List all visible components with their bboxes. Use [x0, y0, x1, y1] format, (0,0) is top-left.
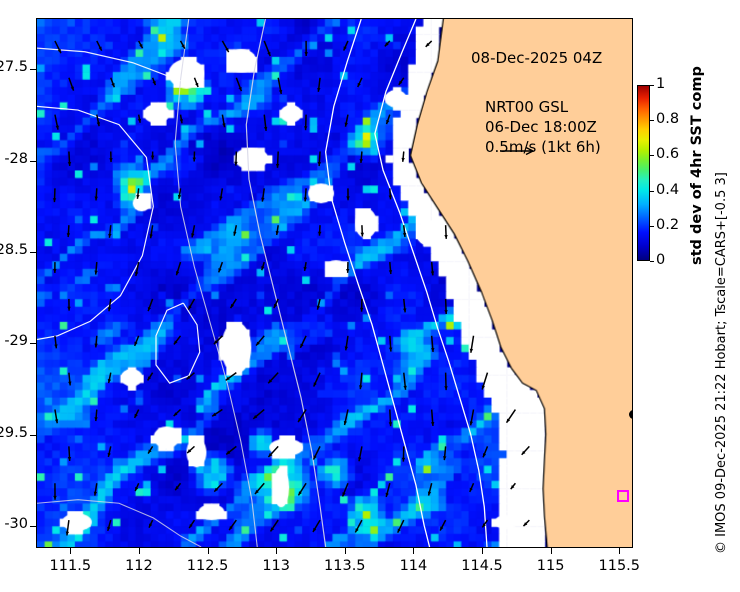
current-vector-arrow: [108, 373, 111, 383]
current-vector-arrow: [94, 336, 97, 348]
current-vector-arrow: [108, 446, 111, 457]
x-axis-tick-label: 112.5: [178, 558, 238, 574]
x-axis-tick: [482, 548, 483, 554]
current-vector-arrow: [212, 410, 222, 417]
current-vector-arrow: [402, 446, 405, 461]
x-axis-tick: [70, 548, 71, 554]
colorbar-gradient: [637, 85, 650, 261]
current-vector-arrow: [256, 336, 264, 346]
x-axis-tick-label: 114.5: [452, 558, 512, 574]
current-vector-arrow: [403, 299, 406, 312]
current-vector-arrow: [261, 262, 264, 270]
current-vector-arrow: [68, 373, 71, 386]
current-vector-arrow: [305, 41, 308, 56]
colorbar-tick: [650, 261, 654, 262]
y-axis-tick-label: -29.5: [0, 425, 28, 441]
current-vector-arrow: [97, 41, 102, 51]
x-axis-tick-label: 115.5: [589, 558, 649, 574]
current-vector-arrow: [181, 41, 185, 49]
current-vector-arrow: [403, 373, 406, 390]
current-vector-arrow: [426, 41, 432, 47]
current-vector-arrow: [187, 446, 194, 453]
current-vector-arrow: [440, 520, 445, 530]
fishsoop-observation-marker[interactable]: [617, 490, 629, 502]
current-vector-arrow: [522, 446, 530, 454]
current-vector-arrow: [188, 299, 194, 310]
current-vector-arrow: [193, 151, 196, 161]
sst-std-dev-map-figure: 08-Dec-2025 04Z NRT00 GSL 06-Dec 18:00Z …: [0, 0, 740, 592]
current-vector-arrow: [194, 78, 198, 87]
y-axis-tick-label: -30: [0, 516, 28, 532]
current-vector-arrow: [346, 188, 349, 200]
current-vector-arrow: [482, 373, 488, 390]
colorbar-tick: [650, 191, 654, 192]
current-vector-arrow: [174, 410, 181, 417]
x-axis-tick: [551, 548, 552, 554]
isobath-contour: [37, 48, 181, 81]
y-axis-tick: [30, 252, 36, 253]
current-vector-arrow: [139, 41, 143, 48]
current-vector-arrow: [298, 483, 306, 495]
x-axis-tick: [208, 548, 209, 554]
current-vector-arrow: [135, 410, 139, 418]
isobath-contour: [37, 500, 201, 547]
current-vector-arrow: [304, 115, 307, 131]
current-vector-arrow: [180, 115, 183, 124]
isobath-contour: [326, 19, 430, 547]
y-axis-tick: [30, 435, 36, 436]
current-vector-arrow: [344, 410, 348, 426]
current-vector-arrow: [226, 446, 236, 454]
current-vector-arrow: [431, 410, 434, 426]
current-vector-arrow: [358, 446, 362, 461]
current-vector-arrow: [97, 115, 100, 127]
x-axis-tick: [276, 548, 277, 554]
current-vector-arrow: [523, 520, 529, 526]
current-vector-arrow: [345, 336, 348, 351]
current-vector-arrow: [318, 151, 321, 166]
current-vector-arrow: [226, 373, 237, 381]
current-vector-arrow: [53, 262, 56, 273]
y-axis-tick: [30, 526, 36, 527]
current-vector-arrow: [219, 188, 222, 200]
current-vector-arrow: [264, 115, 267, 131]
current-vector-arrow: [271, 520, 279, 531]
current-vector-arrow: [359, 373, 362, 390]
current-vector-arrow: [470, 336, 474, 353]
current-vector-arrow: [174, 336, 181, 345]
current-vector-arrow: [443, 446, 446, 460]
current-vector-arrow: [148, 299, 153, 311]
current-vector-arrow: [444, 225, 447, 239]
current-vector-arrow: [268, 373, 278, 384]
current-vector-arrow: [355, 520, 362, 532]
current-vector-arrow: [67, 225, 70, 237]
x-axis-tick: [619, 548, 620, 554]
isobath-contour: [375, 19, 487, 547]
vector-scale-arrow-icon: [499, 145, 539, 157]
current-vector-arrow: [261, 188, 264, 201]
current-vector-arrow: [385, 41, 390, 46]
current-vector-arrow: [358, 78, 362, 87]
current-vector-arrow: [148, 373, 153, 381]
x-axis-tick: [413, 548, 414, 554]
current-vector-arrow: [175, 483, 180, 490]
x-axis-tick-label: 115: [521, 558, 581, 574]
current-vector-arrow: [176, 262, 181, 275]
current-vector-arrow: [108, 299, 111, 311]
x-axis-tick-label: 111.5: [40, 558, 100, 574]
current-vector-arrow: [389, 262, 392, 274]
colorbar-tick-label: 1: [656, 76, 665, 92]
current-vector-arrow: [255, 483, 264, 494]
current-vector-arrow: [300, 336, 306, 348]
y-axis-tick-label: -28.5: [0, 242, 28, 258]
colorbar-tick-label: 0.6: [656, 146, 679, 162]
colorbar-tick: [650, 85, 654, 86]
isobath-contour: [37, 106, 153, 339]
current-vector-arrow: [53, 483, 56, 500]
current-vector-arrow: [304, 188, 307, 201]
current-vector-arrow: [94, 410, 97, 422]
current-vector-arrow: [68, 151, 71, 165]
current-vector-arrow: [94, 483, 97, 495]
colorbar-tick: [650, 226, 654, 227]
current-vector-arrow: [55, 410, 58, 424]
y-axis-tick: [30, 343, 36, 344]
colorbar-tick-label: 0.8: [656, 111, 679, 127]
isobath-contour: [156, 303, 200, 383]
current-vector-arrow: [278, 78, 282, 94]
current-vector-arrow: [148, 446, 152, 453]
current-vector-arrow: [317, 78, 320, 92]
y-axis-tick-label: -29: [0, 333, 28, 349]
current-vector-arrow: [313, 520, 320, 532]
valid-time: 06-Dec 18:00Z: [485, 117, 601, 137]
x-axis-tick: [345, 548, 346, 554]
current-vector-arrow: [95, 188, 98, 200]
current-vector-arrow: [314, 373, 320, 387]
current-vector-arrow: [136, 188, 139, 198]
product-name: NRT00 GSL: [485, 97, 601, 117]
current-vector-arrow: [135, 483, 138, 491]
current-vector-arrow: [511, 483, 516, 489]
current-vector-arrow: [389, 336, 392, 352]
current-vector-arrow: [344, 41, 348, 51]
isobath-contour: [175, 19, 257, 547]
current-vector-arrow: [431, 336, 434, 352]
current-vector-arrow: [360, 151, 363, 162]
city-marker-dongara: [629, 410, 633, 419]
colorbar-tick: [650, 155, 654, 156]
current-vector-arrow: [151, 151, 154, 159]
current-vector-arrow: [360, 299, 363, 312]
x-axis-tick-label: 112: [109, 558, 169, 574]
current-vector-arrow: [54, 336, 57, 349]
current-vector-arrow: [67, 299, 70, 311]
current-vector-arrow: [470, 410, 474, 426]
current-vector-arrow: [345, 115, 348, 127]
y-axis-tick-label: -27.5: [0, 59, 28, 75]
current-vector-arrow: [318, 225, 321, 235]
current-vector-arrow: [276, 151, 279, 167]
x-axis-tick-label: 114: [383, 558, 443, 574]
current-vector-arrow: [470, 483, 474, 492]
current-vector-arrow: [276, 225, 279, 235]
current-vector-arrow: [304, 262, 307, 271]
current-vector-arrow: [149, 520, 153, 528]
current-vector-arrow: [431, 262, 434, 275]
current-vector-arrow: [342, 483, 347, 496]
current-vector-arrow: [386, 483, 390, 497]
current-vector-arrow: [152, 78, 155, 85]
current-vector-arrow: [222, 115, 225, 128]
current-vector-arrow: [507, 410, 516, 423]
x-axis-tick-label: 113: [246, 558, 306, 574]
current-vector-arrow: [317, 299, 320, 310]
current-vector-arrow: [264, 41, 270, 56]
colorbar-title: std dev of 4hr SST comp: [689, 66, 705, 265]
colorbar-tick-label: 0.4: [656, 182, 679, 198]
current-vector-arrow: [386, 115, 390, 124]
current-vector-arrow: [66, 520, 69, 535]
current-vector-arrow: [229, 520, 236, 530]
current-vector-arrow: [69, 78, 74, 91]
current-vector-arrow: [398, 520, 404, 533]
current-vector-arrow: [189, 520, 194, 528]
current-vector-arrow: [53, 188, 56, 202]
current-vector-arrow: [94, 262, 97, 274]
current-vector-arrow: [218, 262, 222, 272]
current-vector-arrow: [150, 225, 153, 238]
current-vector-arrow: [233, 225, 236, 235]
map-plot-area[interactable]: 08-Dec-2025 04Z NRT00 GSL 06-Dec 18:00Z …: [36, 18, 633, 548]
current-vector-arrow: [236, 78, 241, 91]
current-vector-arrow: [231, 299, 237, 308]
copyright-credit: © IMOS 09-Dec-2025 21:22 Hobart; Tscale=…: [714, 172, 729, 554]
current-vector-arrow: [268, 446, 278, 457]
current-vector-arrow: [444, 373, 447, 390]
current-vector-arrow: [401, 151, 404, 161]
current-vector-arrow: [222, 41, 228, 52]
current-vector-arrow: [55, 41, 61, 53]
current-vector-arrow: [109, 151, 112, 162]
x-axis-tick-label: 113.5: [315, 558, 375, 574]
y-axis-tick: [30, 69, 36, 70]
isobath-contour: [246, 19, 325, 547]
current-vector-arrow: [134, 336, 138, 346]
current-vector-arrow: [107, 520, 111, 531]
current-vector-arrow: [138, 115, 141, 123]
current-vector-arrow: [444, 299, 447, 314]
date-label: 08-Dec-2025 04Z: [471, 49, 602, 67]
current-vector-arrow: [68, 446, 71, 461]
y-axis-tick-label: -28: [0, 151, 28, 167]
colorbar-tick-label: 0: [656, 252, 665, 268]
current-vector-arrow: [108, 225, 111, 238]
current-vector-arrow: [399, 78, 404, 85]
current-vector-arrow: [55, 115, 59, 130]
current-vector-arrow: [361, 225, 364, 236]
current-vector-arrow: [313, 446, 320, 459]
current-vector-arrow: [483, 446, 487, 457]
x-axis-tick: [139, 548, 140, 554]
y-axis-tick: [30, 161, 36, 162]
current-vector-arrow: [111, 78, 115, 87]
current-vector-arrow: [428, 483, 432, 495]
current-vector-arrow: [346, 262, 349, 273]
current-vector-arrow: [234, 151, 237, 165]
current-vector-arrow: [253, 410, 264, 419]
current-vector-arrow: [191, 225, 194, 237]
current-vector-arrow: [389, 410, 392, 427]
current-vector-arrow: [214, 483, 222, 491]
colorbar-tick: [650, 120, 654, 121]
colorbar-tick-label: 0.2: [656, 217, 679, 233]
